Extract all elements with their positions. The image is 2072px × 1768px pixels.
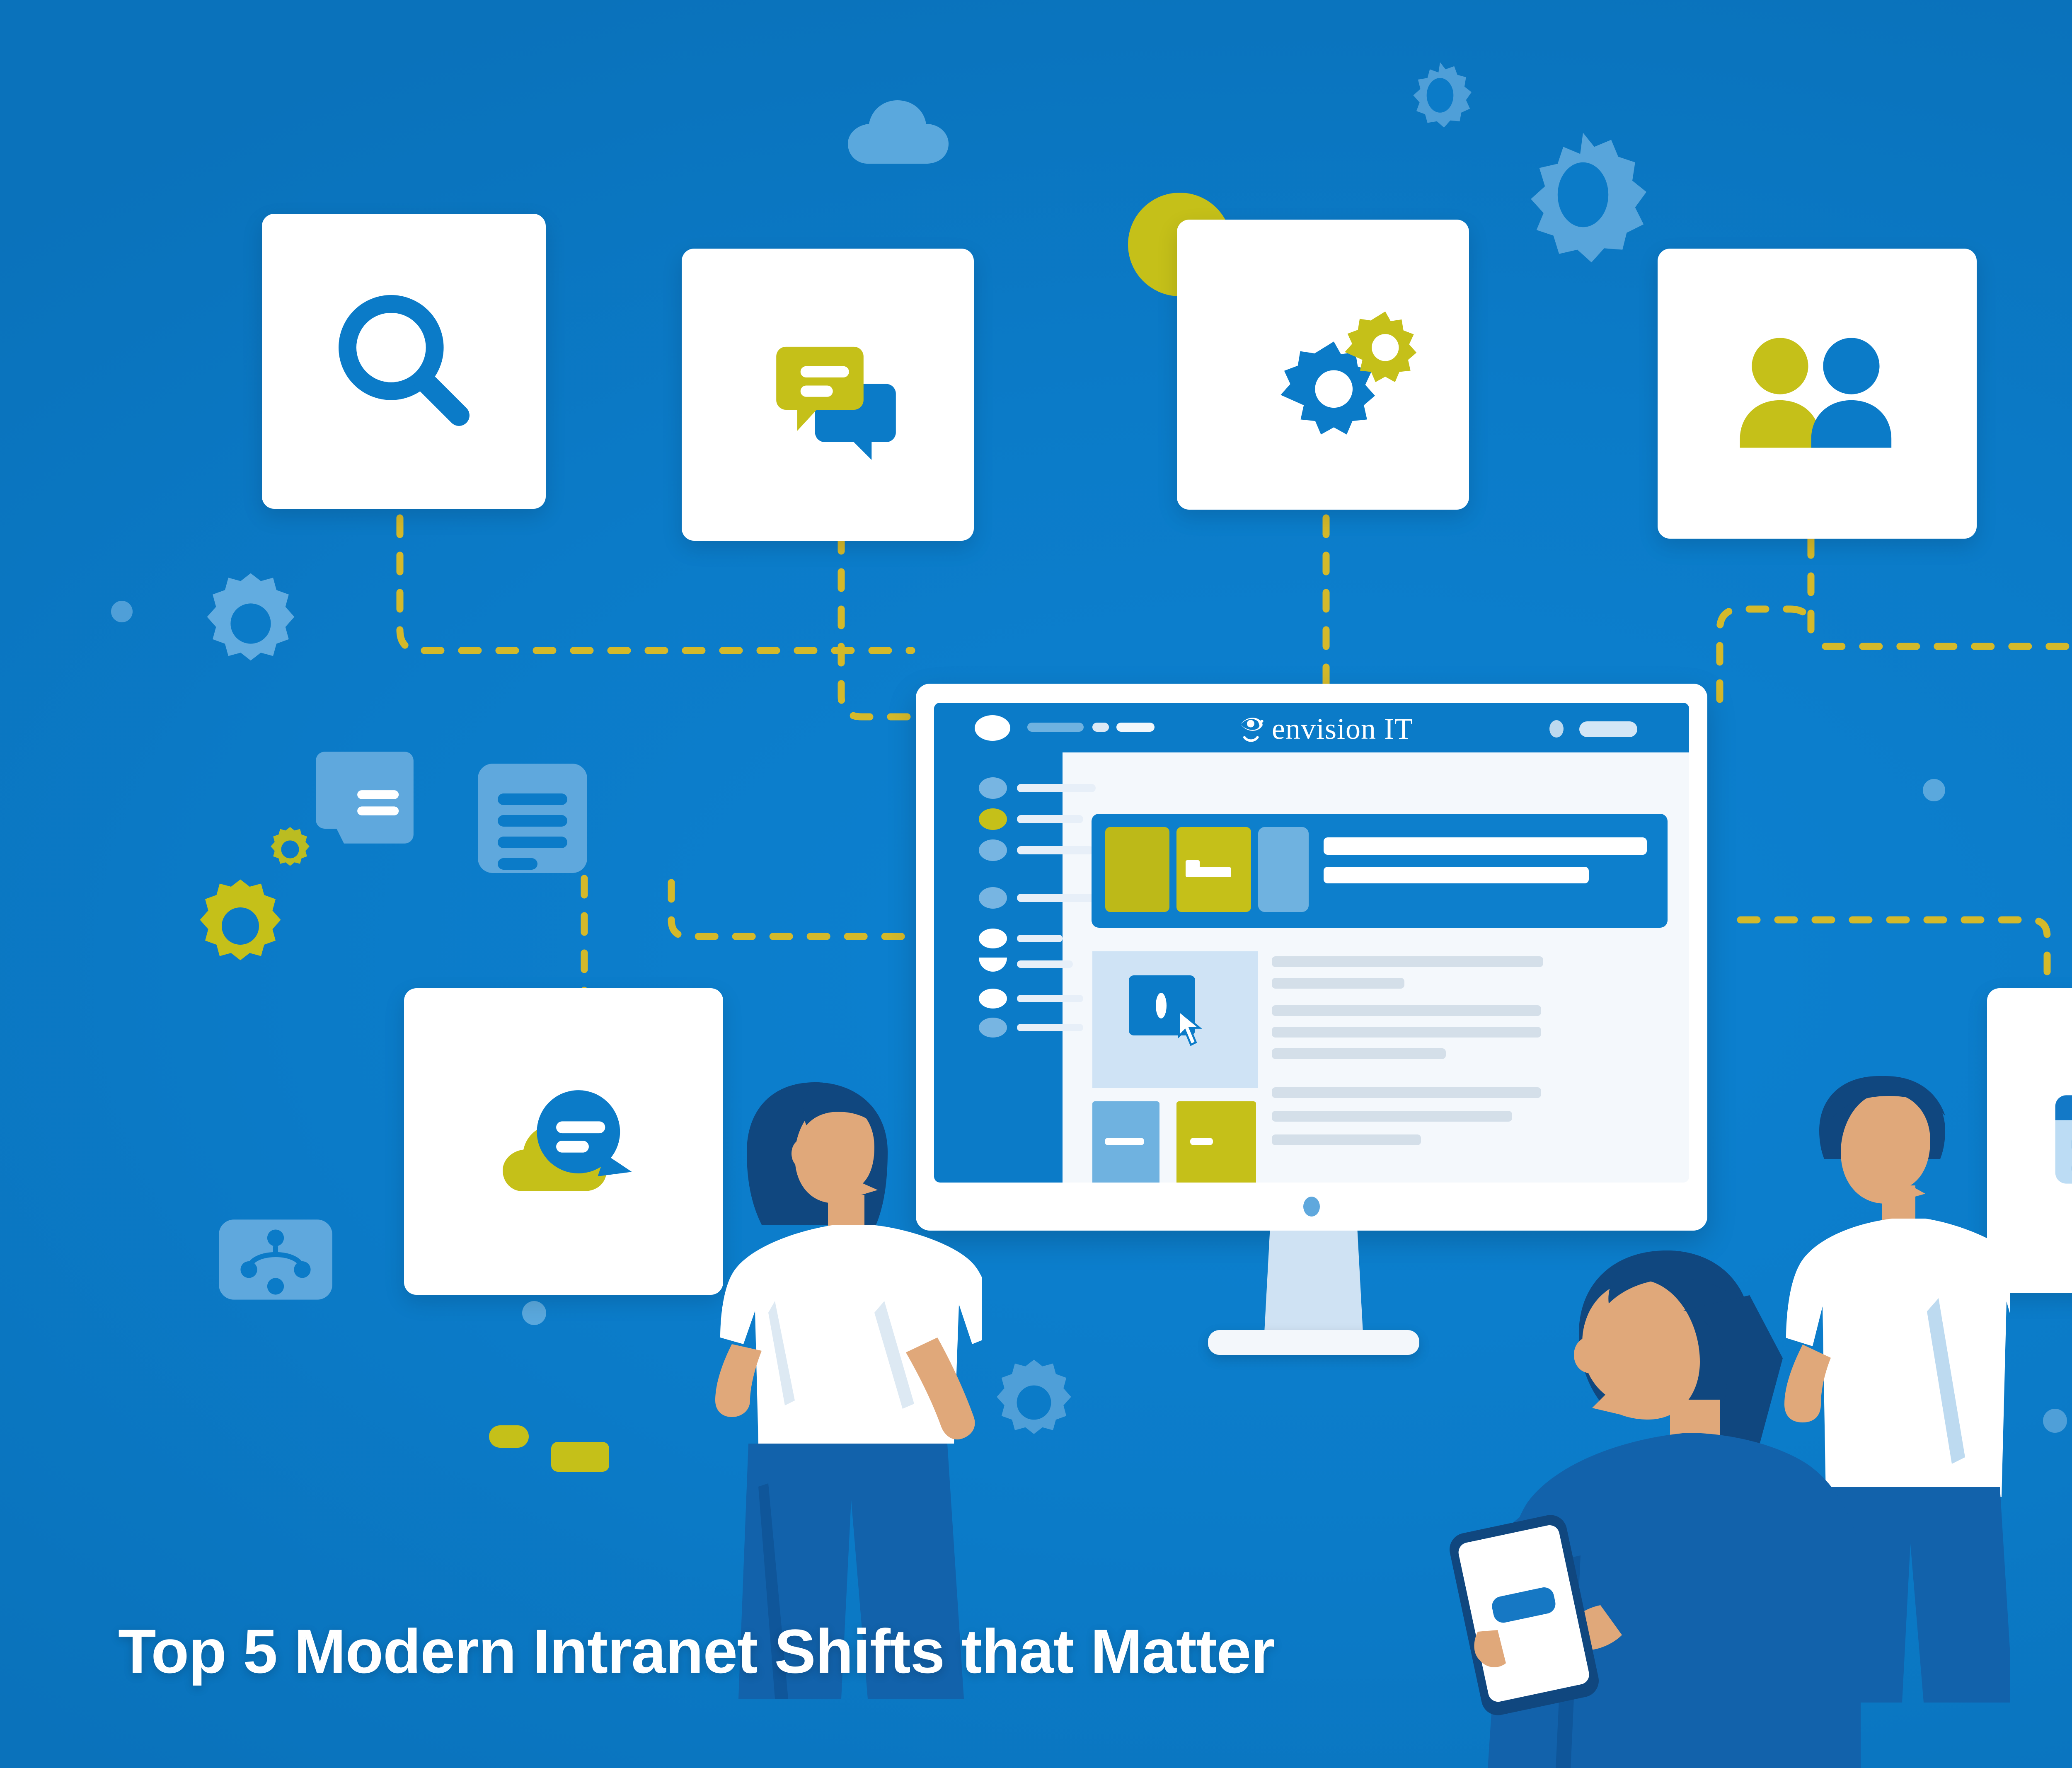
hero-tile[interactable] [1258,827,1309,912]
sidebar-item-label[interactable] [1017,894,1096,902]
sidebar-item-label[interactable] [1017,960,1073,968]
gear-icon [1401,54,1479,137]
monitor-screen: envision IT [934,703,1689,1183]
content-text-line [1272,1048,1446,1059]
two-people-icon [1728,329,1906,459]
content-tile[interactable] [1092,1101,1159,1183]
sidebar-item-label[interactable] [1017,1024,1083,1031]
decorative-dot [111,601,133,622]
content-text-line [1272,1005,1541,1016]
monitor-neck [1264,1231,1363,1340]
gear-icon [986,1355,1082,1450]
content-text-line [1272,1087,1541,1098]
cloud-chat-icon [474,1072,653,1211]
hero-tile[interactable] [1105,827,1169,912]
topbar-action-button[interactable] [1579,721,1637,737]
feature-card-people[interactable] [1658,249,1977,539]
gear-icon [1513,120,1653,269]
content-text-line [1272,1134,1421,1145]
gears-icon [1253,289,1427,453]
monitor-power-indicator [1303,1197,1320,1217]
topbar-menu-pill[interactable] [1092,723,1109,732]
sidebar-item-dot[interactable] [979,929,1007,948]
content-tile[interactable] [1176,1101,1256,1183]
share-node-icon [215,1216,336,1305]
feature-card-automation[interactable] [1177,220,1469,510]
sidebar-item-dot-active[interactable] [979,808,1007,830]
person-man-with-phone [1421,1214,1861,1768]
decorative-dot [1923,779,1945,801]
sidebar-item-dot[interactable] [979,989,1007,1009]
search-icon [323,280,485,443]
feature-card-search[interactable] [262,214,546,509]
decorative-dot [2043,1409,2067,1433]
notifications-icon[interactable] [1549,720,1564,738]
dashboard-card-icon [2044,1084,2072,1197]
illustration-canvas: AI [0,0,2072,1768]
hero-subline [1324,867,1589,883]
page-title: Top 5 Modern Intranet Shifts that Matter [118,1616,1275,1687]
brand-logo: envision IT [1239,712,1413,746]
content-text-line [1272,956,1543,967]
content-text-line [1272,1111,1512,1122]
person-woman-left [675,1052,982,1699]
sidebar-item-label[interactable] [1017,995,1083,1002]
chat-bubbles-icon [747,313,909,476]
decorative-dot [551,1442,609,1472]
brand-name: envision IT [1272,712,1413,746]
cloud-upload-icon [2068,787,2072,930]
topbar-menu-pill[interactable] [1027,723,1084,732]
user-avatar[interactable] [975,715,1010,741]
sidebar-item-label[interactable] [1017,846,1094,854]
gear-icon [189,874,292,978]
gear-icon [265,825,315,874]
sidebar-item-dot[interactable] [979,887,1007,909]
quote-card-icon [313,746,416,851]
monitor-base [1208,1330,1419,1355]
decorative-dot [489,1425,529,1448]
sidebar-item-dot[interactable] [979,777,1007,799]
sidebar-item-dot[interactable] [979,1018,1007,1038]
sidebar-item-label[interactable] [1017,935,1063,942]
content-text-line [1272,978,1404,989]
topbar-menu-pill[interactable] [1116,723,1155,732]
document-icon [474,760,591,878]
decorative-dot [522,1301,546,1325]
content-image-placeholder[interactable] [1092,951,1258,1088]
hero-tile[interactable] [1176,827,1251,912]
sidebar-item-dot[interactable] [979,839,1007,861]
hero-headline [1324,837,1647,855]
gear-icon [195,568,307,680]
mouse-cursor [1175,1009,1204,1051]
feature-card-collaboration[interactable] [682,249,974,541]
envision-eye-icon [1239,712,1268,746]
hero-banner[interactable] [1092,814,1668,928]
content-text-line [1272,1027,1541,1038]
sidebar-item-label[interactable] [1017,815,1083,823]
cloud-icon [821,95,957,172]
sidebar-item-label[interactable] [1017,784,1096,792]
